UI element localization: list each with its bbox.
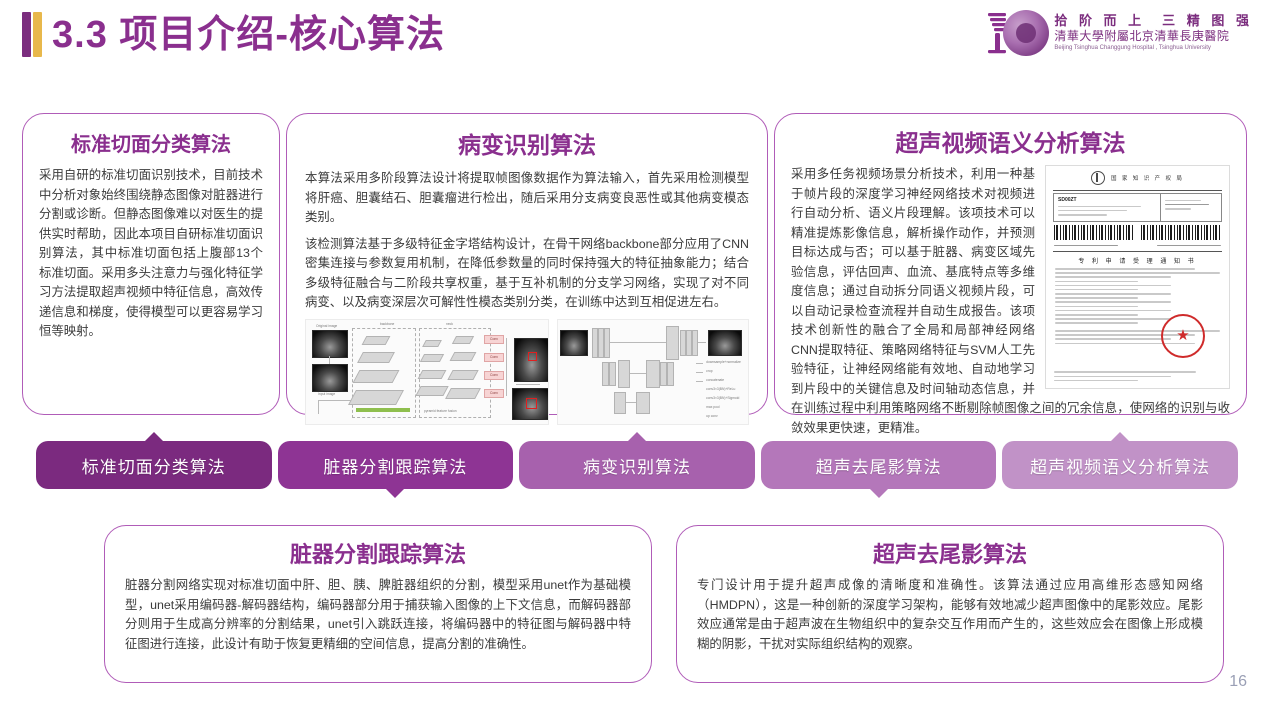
patent-number-row <box>1054 242 1221 249</box>
figure-label-original-image: Original image <box>316 324 337 328</box>
card-body: 国 家 知 识 产 权 局 SD00ZT 专 利 申 请 受 理 通 知 <box>791 165 1230 438</box>
card-lesion-recognition: 病变识别算法 本算法采用多阶段算法设计将提取帧图像数据作为算法输入，首先采用检测… <box>286 113 768 415</box>
tab-label: 超声视频语义分析算法 <box>1030 453 1210 478</box>
barcode-icon <box>1054 225 1134 240</box>
algorithm-tab-bar[interactable]: 标准切面分类算法 脏器分割跟踪算法 病变识别算法 超声去尾影算法 超声视频语义分… <box>36 441 1238 489</box>
input-image-thumb <box>312 364 348 392</box>
figure-label-neck: neck <box>446 322 453 326</box>
card-body: 脏器分割网络实现对标准切面中肝、胆、胰、脾脏器组织的分割，模型采用unet作为基… <box>125 576 631 654</box>
hospital-logo: 拾 阶 而 上 三 精 图 强 清華大學附屬北京清華長庚醫院 Beijing T… <box>986 8 1253 58</box>
pointer-up-icon <box>145 432 163 441</box>
unet-input-thumb <box>560 330 588 356</box>
card-tail-shadow-removal: 超声去尾影算法 专门设计用于提升超声成像的清晰度和准确性。该算法通过应用高维形态… <box>676 525 1224 683</box>
conv-box: Conv <box>484 335 504 344</box>
logo-hospital-name-en: Beijing Tsinghua Changgung Hospital , Ts… <box>1054 44 1253 53</box>
card-title: 脏器分割跟踪算法 <box>125 540 631 570</box>
card-body: 本算法采用多阶段算法设计将提取帧图像数据作为算法输入，首先采用检测模型将肝癌、胆… <box>305 169 749 313</box>
card-paragraph: 本算法采用多阶段算法设计将提取帧图像数据作为算法输入，首先采用检测模型将肝癌、胆… <box>305 169 749 228</box>
figure-label-backbone: backbone <box>380 322 394 326</box>
legend-crop: crop <box>706 369 712 373</box>
card-title: 标准切面分类算法 <box>39 130 263 160</box>
pointer-down-icon <box>386 489 404 498</box>
patent-barcodes <box>1054 225 1221 240</box>
patent-meta-right <box>1161 194 1221 221</box>
official-seal-icon <box>1161 314 1205 358</box>
conv-box: Conv <box>484 371 504 380</box>
lesion-figure-row: backbone neck pyramid feature fusion Ori… <box>305 319 749 425</box>
figure-label-pyramid-fusion: pyramid feature fusion <box>424 409 457 413</box>
conv-box: Conv <box>484 389 504 398</box>
card-paragraph: 该检测算法基于多级特征金字塔结构设计，在骨干网络backbone部分应用了CNN… <box>305 235 749 313</box>
pointer-up-icon <box>1111 432 1129 441</box>
patent-doc-title: 专 利 申 请 受 理 通 知 书 <box>1046 256 1229 265</box>
barcode-icon <box>1141 225 1221 240</box>
anniversary-logo-icon <box>986 9 1048 57</box>
legend-conv-relu: conv3×3(BN)+ReLu <box>706 387 735 391</box>
slide-header: 3.3 项目介绍-核心算法 拾 阶 而 上 三 精 图 强 清華大學附屬北京清華… <box>0 0 1269 78</box>
card-title: 病变识别算法 <box>305 130 749 160</box>
card-paragraph: 专门设计用于提升超声成像的清晰度和准确性。该算法通过应用高维形态感知网络（HMD… <box>697 576 1203 654</box>
card-body: 专门设计用于提升超声成像的清晰度和准确性。该算法通过应用高维形态感知网络（HMD… <box>697 576 1203 654</box>
tab-organ-segmentation-tracking[interactable]: 脏器分割跟踪算法 <box>278 441 514 489</box>
patent-app-number: SD00ZT <box>1058 197 1156 203</box>
logo-slogan: 拾 阶 而 上 三 精 图 强 <box>1054 13 1253 29</box>
title-accent-bar-gold <box>33 12 42 57</box>
legend-up-conv: up conv <box>706 414 718 418</box>
legend-downsample: downsample+normalize <box>706 360 741 364</box>
tab-video-semantic-analysis[interactable]: 超声视频语义分析算法 <box>1002 441 1238 489</box>
tab-label: 脏器分割跟踪算法 <box>323 453 467 478</box>
figure-label-input-image: Input image <box>318 392 335 396</box>
card-organ-segmentation-tracking: 脏器分割跟踪算法 脏器分割网络实现对标准切面中肝、胆、胰、脾脏器组织的分割，模型… <box>104 525 652 683</box>
divider <box>1053 190 1222 191</box>
patent-footer <box>1054 369 1221 384</box>
patent-meta-grid: SD00ZT <box>1053 193 1222 222</box>
tab-label: 病变识别算法 <box>583 453 691 478</box>
patent-application-notice-document: 国 家 知 识 产 权 局 SD00ZT 专 利 申 请 受 理 通 知 <box>1045 165 1230 389</box>
card-paragraph: 采用自研的标准切面识别技术，目前技术中分析对象始终围绕静态图像对脏器进行分割或诊… <box>39 166 263 342</box>
patent-meta-left: SD00ZT <box>1054 194 1161 221</box>
patent-header: 国 家 知 识 产 权 局 <box>1046 166 1229 188</box>
legend-max-pool: max pool <box>706 405 719 409</box>
detection-pyramid-network-diagram: backbone neck pyramid feature fusion Ori… <box>305 319 549 425</box>
pointer-up-icon <box>628 432 646 441</box>
detection-bbox-zoom <box>526 398 537 409</box>
title-accent-bar-purple <box>22 12 31 57</box>
card-ultrasound-video-semantic-analysis: 超声视频语义分析算法 国 家 知 识 产 权 局 SD00ZT <box>774 113 1247 415</box>
anniversary-circle-icon <box>1003 10 1049 56</box>
card-paragraph: 脏器分割网络实现对标准切面中肝、胆、胰、脾脏器组织的分割，模型采用unet作为基… <box>125 576 631 654</box>
tab-lesion-recognition[interactable]: 病变识别算法 <box>519 441 755 489</box>
page-title: 3.3 项目介绍-核心算法 <box>52 9 445 61</box>
unet-output-thumb <box>708 330 742 356</box>
original-image-thumb <box>312 330 348 358</box>
tab-standard-plane-classification[interactable]: 标准切面分类算法 <box>36 441 272 489</box>
logo-hospital-name-cn: 清華大學附屬北京清華長庚醫院 <box>1054 29 1253 44</box>
legend-conv-sigmoid: conv3×3(BN)+Sigmoid <box>706 396 739 400</box>
patent-issuer: 国 家 知 识 产 权 局 <box>1111 174 1184 182</box>
conv-box: Conv <box>484 353 504 362</box>
unet-segmentation-diagram: downsample+normalize crop concatenate co… <box>557 319 749 425</box>
cnipa-emblem-icon <box>1091 171 1105 185</box>
card-standard-plane-classification: 标准切面分类算法 采用自研的标准切面识别技术，目前技术中分析对象始终围绕静态图像… <box>22 113 280 415</box>
detection-bbox <box>528 352 537 361</box>
tab-label: 标准切面分类算法 <box>82 453 226 478</box>
pointer-down-icon <box>870 489 888 498</box>
card-body: 采用自研的标准切面识别技术，目前技术中分析对象始终围绕静态图像对脏器进行分割或诊… <box>39 166 263 342</box>
card-title: 超声去尾影算法 <box>697 540 1203 570</box>
legend-concatenate: concatenate <box>706 378 724 382</box>
page-number: 16 <box>1229 673 1247 691</box>
logo-text-block: 拾 阶 而 上 三 精 图 强 清華大學附屬北京清華長庚醫院 Beijing T… <box>1054 13 1253 53</box>
card-title: 超声视频语义分析算法 <box>791 128 1230 158</box>
tab-label: 超声去尾影算法 <box>816 453 942 478</box>
tab-tail-shadow-removal[interactable]: 超声去尾影算法 <box>761 441 997 489</box>
